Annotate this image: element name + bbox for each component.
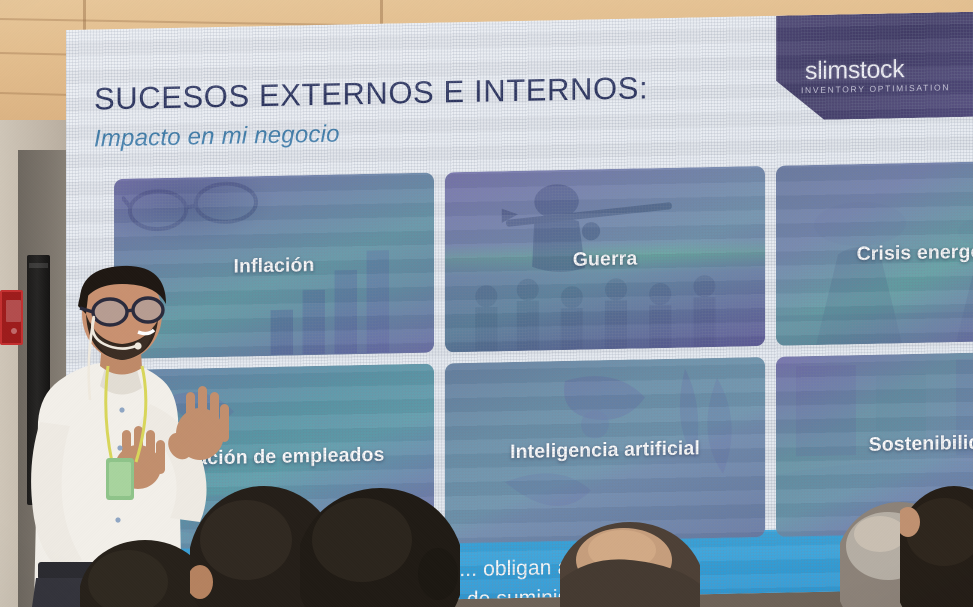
tile-label-sostenibilidad: Sostenibilidad — [869, 431, 973, 457]
tile-label-inteligencia-artificial: Inteligencia artificial — [510, 437, 700, 464]
audience-head-e-dark — [900, 472, 973, 607]
tile-inteligencia-artificial: Inteligencia artificial — [445, 357, 765, 543]
slide-title: SUCESOS EXTERNOS E INTERNOS: — [94, 70, 648, 117]
presentation-photograph: slimstock INVENTORY OPTIMISATION SUCESOS… — [0, 0, 973, 607]
tile-label-guerra: Guerra — [573, 247, 638, 271]
tile-crisis-energetica: Crisis energética — [776, 159, 973, 345]
audience-head-b — [300, 478, 460, 607]
tile-label-crisis-energetica: Crisis energética — [857, 239, 973, 265]
slide-subtitle: Impacto en mi negocio — [94, 121, 340, 154]
audience-head-c-balding — [560, 520, 700, 607]
tile-guerra: Guerra — [445, 166, 765, 352]
